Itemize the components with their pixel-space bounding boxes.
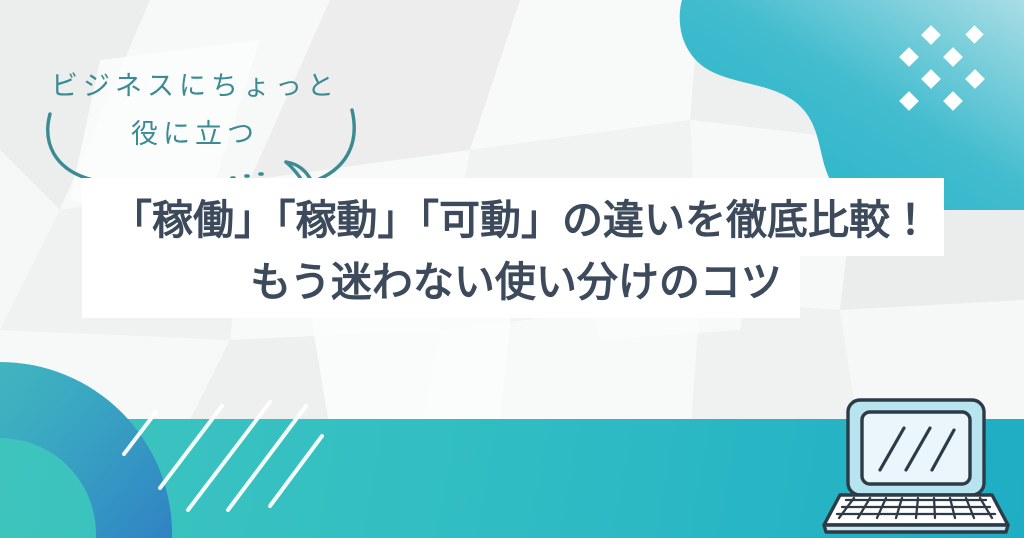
- page-title-line-2: もう迷わない使い分けのコツ: [0, 248, 1024, 308]
- diagonal-slash-decoration: [60, 358, 360, 538]
- banner-canvas: ビジネスにちょっと 役に立つ 「稼働」「稼動」「可動」の違いを徹底比較！ もう迷…: [0, 0, 1024, 538]
- laptop-icon: [818, 394, 1016, 538]
- diamond-dot-pattern: [896, 24, 996, 116]
- page-title-line-1: 「稼働」「稼動」「可動」の違いを徹底比較！: [0, 186, 1024, 246]
